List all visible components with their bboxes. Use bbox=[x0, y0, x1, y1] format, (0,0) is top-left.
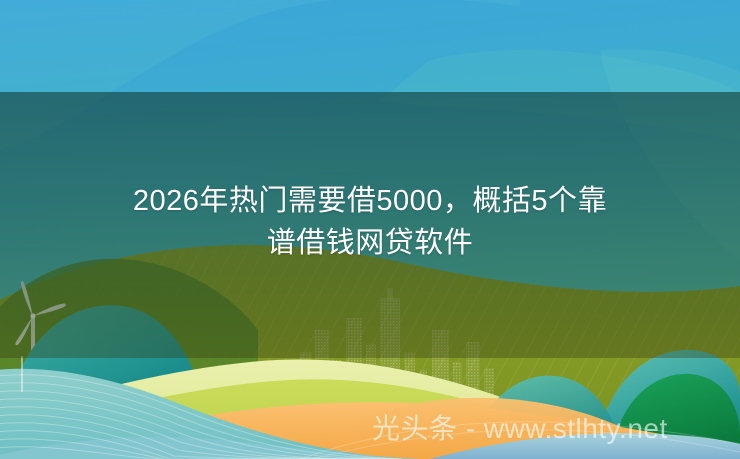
page-title-line-2: 谱借钱网贷软件 bbox=[0, 222, 740, 264]
article-cover-banner: 2026年热门需要借5000，概括5个靠 谱借钱网贷软件 光头条 - www.s… bbox=[0, 0, 740, 459]
site-watermark: 光头条 - www.stlhty.net bbox=[372, 412, 668, 446]
left-edge-accent bbox=[21, 356, 23, 392]
page-title-line-1: 2026年热门需要借5000，概括5个靠 bbox=[0, 180, 740, 222]
page-title: 2026年热门需要借5000，概括5个靠 谱借钱网贷软件 bbox=[0, 180, 740, 264]
